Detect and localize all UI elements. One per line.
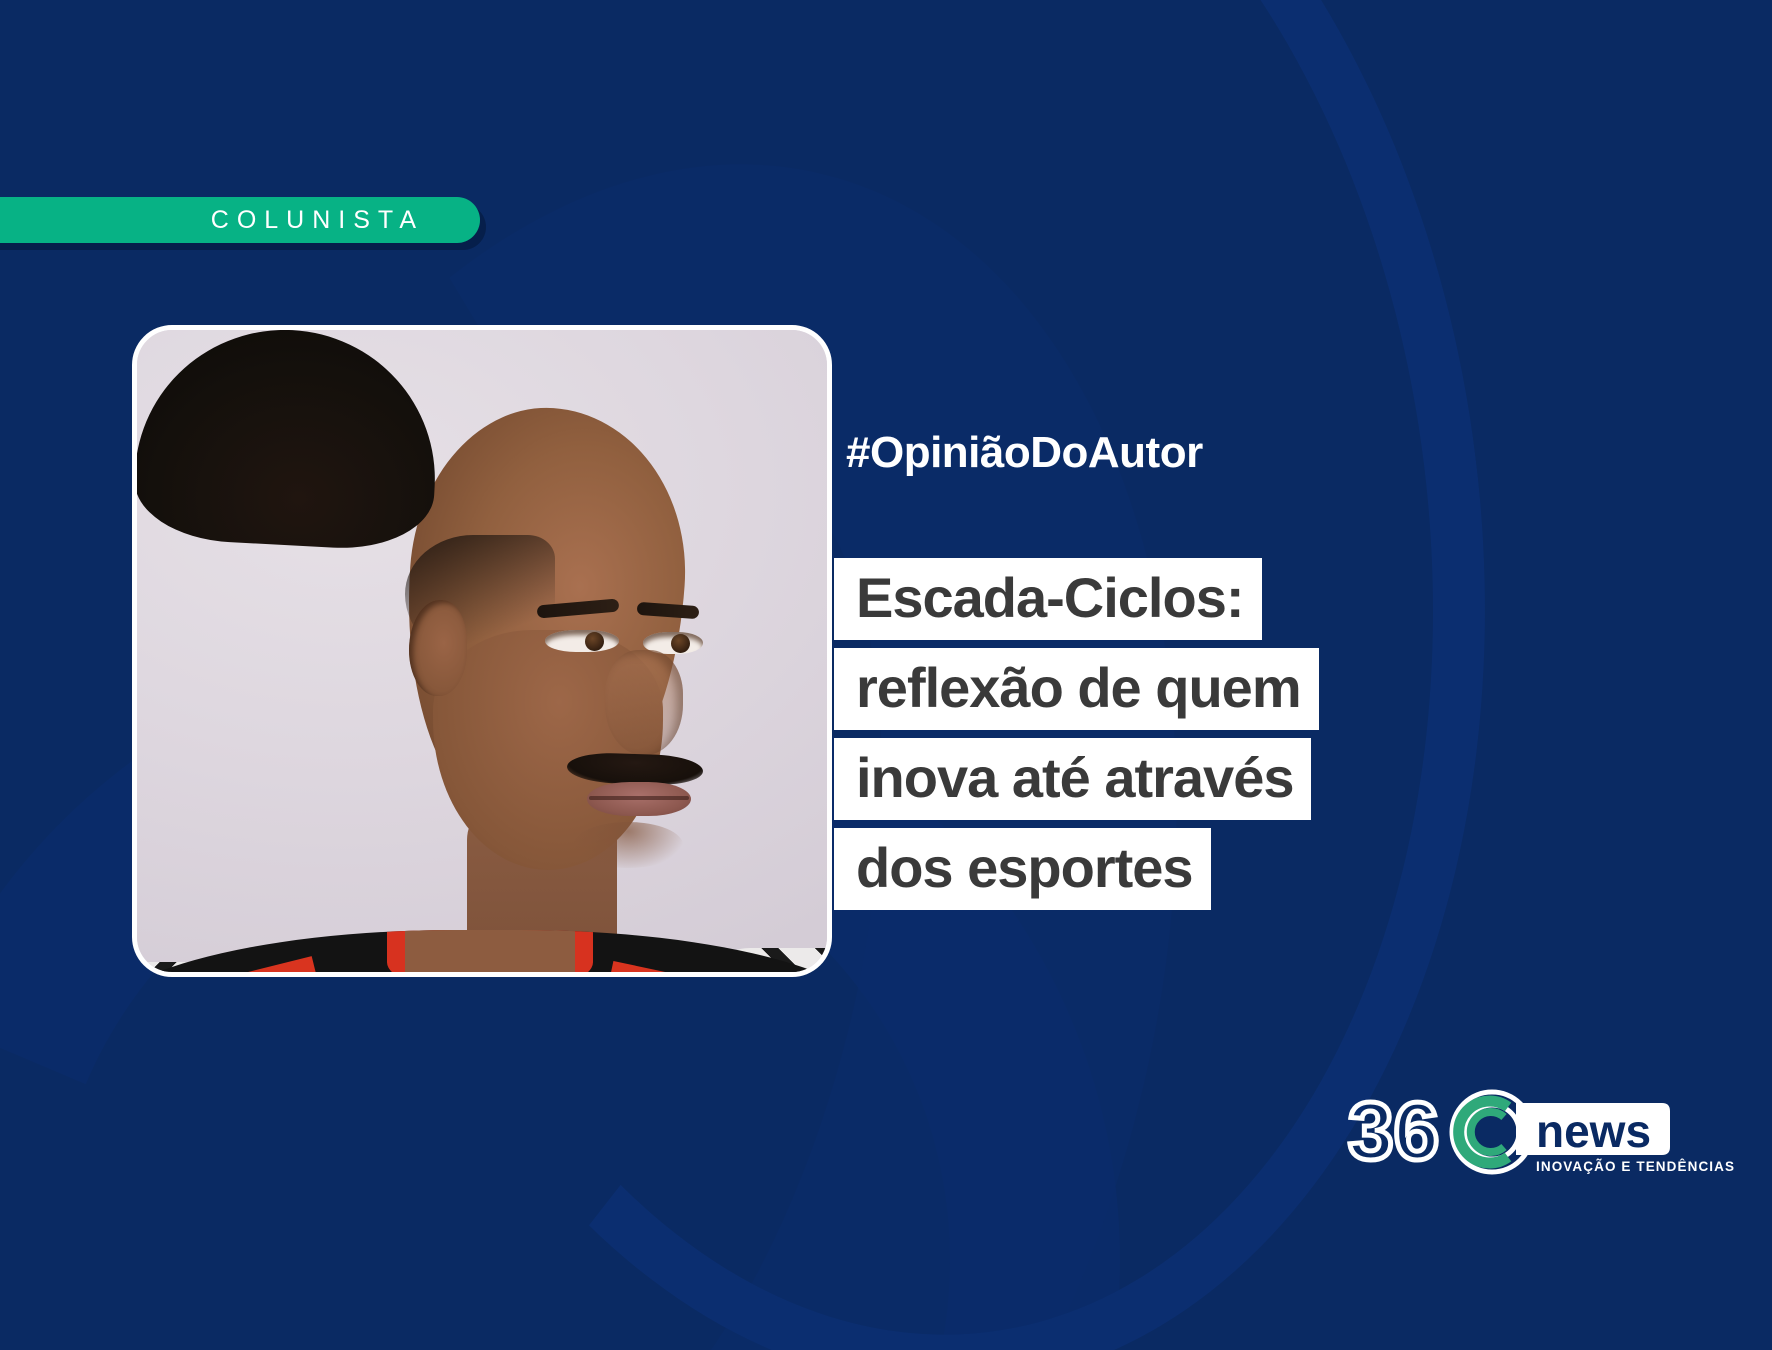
portrait-photo <box>137 330 827 972</box>
portrait-nose <box>605 650 683 755</box>
headline-line-3: inova até através <box>834 738 1311 820</box>
portrait-lip-line <box>589 796 689 800</box>
portrait-frame <box>132 325 832 977</box>
brand-logo: news 36 INOVAÇÃO E TENDÊNCIAS <box>1340 1085 1670 1195</box>
brand-logo-tagline: INOVAÇÃO E TENDÊNCIAS <box>1536 1159 1735 1174</box>
portrait-iris-left <box>585 632 604 651</box>
portrait-iris-right <box>671 634 690 653</box>
colunista-badge-label: COLUNISTA <box>211 206 424 235</box>
garment-collar-opening <box>405 930 575 972</box>
headline-line-1: Escada-Ciclos: <box>834 558 1262 640</box>
headline: Escada-Ciclos: reflexão de quem inova at… <box>834 558 1319 918</box>
portrait-garment <box>137 930 827 972</box>
headline-line-4: dos esportes <box>834 828 1211 910</box>
brand-logo-word: news <box>1536 1105 1651 1157</box>
colunista-badge: COLUNISTA <box>0 197 480 243</box>
hashtag-label: #OpiniãoDoAutor <box>846 428 1203 478</box>
headline-line-2: reflexão de quem <box>834 648 1319 730</box>
colunista-social-card: COLUNISTA <box>0 0 1772 1350</box>
brand-logo-numerals: 36 <box>1348 1086 1439 1177</box>
portrait-hair <box>137 330 442 553</box>
portrait-ear <box>409 600 467 696</box>
portrait-eye-left <box>545 630 619 652</box>
portrait-chin <box>573 822 683 868</box>
